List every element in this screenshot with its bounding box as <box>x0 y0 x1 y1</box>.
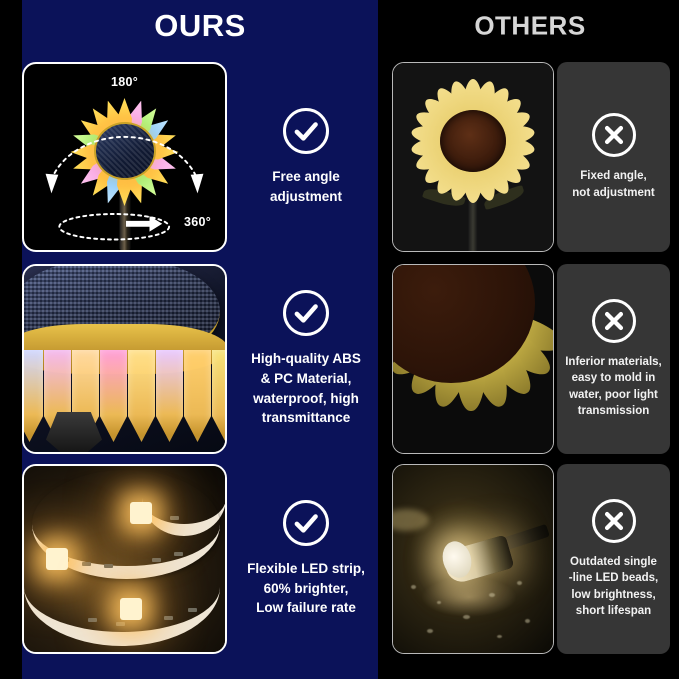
others-caption-2: Inferior materials, easy to mold in wate… <box>565 354 662 418</box>
check-icon <box>283 108 329 154</box>
ours-caption-3: Flexible LED strip, 60% brighter, Low fa… <box>245 559 367 618</box>
others-image-card-2 <box>392 264 554 454</box>
comparison-row-3: Flexible LED strip, 60% brighter, Low fa… <box>0 464 679 656</box>
sunflower-lamp-angle-diagram: 180° 360° <box>24 64 225 250</box>
ours-title: OURS <box>22 8 378 44</box>
ours-text-block-2: High-quality ABS & PC Material, waterpro… <box>233 264 379 454</box>
cross-icon <box>592 113 636 157</box>
coiled-led-strip-photo <box>24 466 225 652</box>
comparison-row-2: High-quality ABS & PC Material, waterpro… <box>0 264 679 456</box>
check-icon <box>283 500 329 546</box>
ours-image-card-1: 180° 360° <box>22 62 227 252</box>
others-caption-1: Fixed angle, not adjustment <box>572 168 654 200</box>
others-image-card-1 <box>392 62 554 252</box>
check-icon <box>283 290 329 336</box>
callout-360-degrees: 360° <box>184 215 211 229</box>
solar-panel-iridescent-petals-closeup <box>24 266 225 452</box>
header: OURS OTHERS <box>0 0 679 60</box>
callout-180-degrees: 180° <box>111 75 138 89</box>
sunflower-closeup-photo <box>393 265 553 453</box>
ours-image-card-3 <box>22 464 227 654</box>
others-text-block-1: Fixed angle, not adjustment <box>557 62 670 252</box>
plain-sunflower-photo <box>393 63 553 251</box>
comparison-row-1: 180° 360° Free angle adjustment <box>0 62 679 254</box>
others-text-block-2: Inferior materials, easy to mold in wate… <box>557 264 670 454</box>
ours-text-block-3: Flexible LED strip, 60% brighter, Low fa… <box>233 464 379 654</box>
ours-image-card-2 <box>22 264 227 454</box>
others-image-card-3 <box>392 464 554 654</box>
others-caption-3: Outdated single -line LED beads, low bri… <box>569 554 658 618</box>
ours-caption-2: High-quality ABS & PC Material, waterpro… <box>249 349 363 427</box>
others-title: OTHERS <box>390 11 670 42</box>
cross-icon <box>592 299 636 343</box>
others-text-block-3: Outdated single -line LED beads, low bri… <box>557 464 670 654</box>
cross-icon <box>592 499 636 543</box>
comparison-infographic: OURS OTHERS 180° 360° <box>0 0 679 679</box>
ours-text-block-1: Free angle adjustment <box>233 62 379 252</box>
wet-single-led-stake-light-photo <box>393 465 553 653</box>
ours-caption-1: Free angle adjustment <box>268 167 344 206</box>
